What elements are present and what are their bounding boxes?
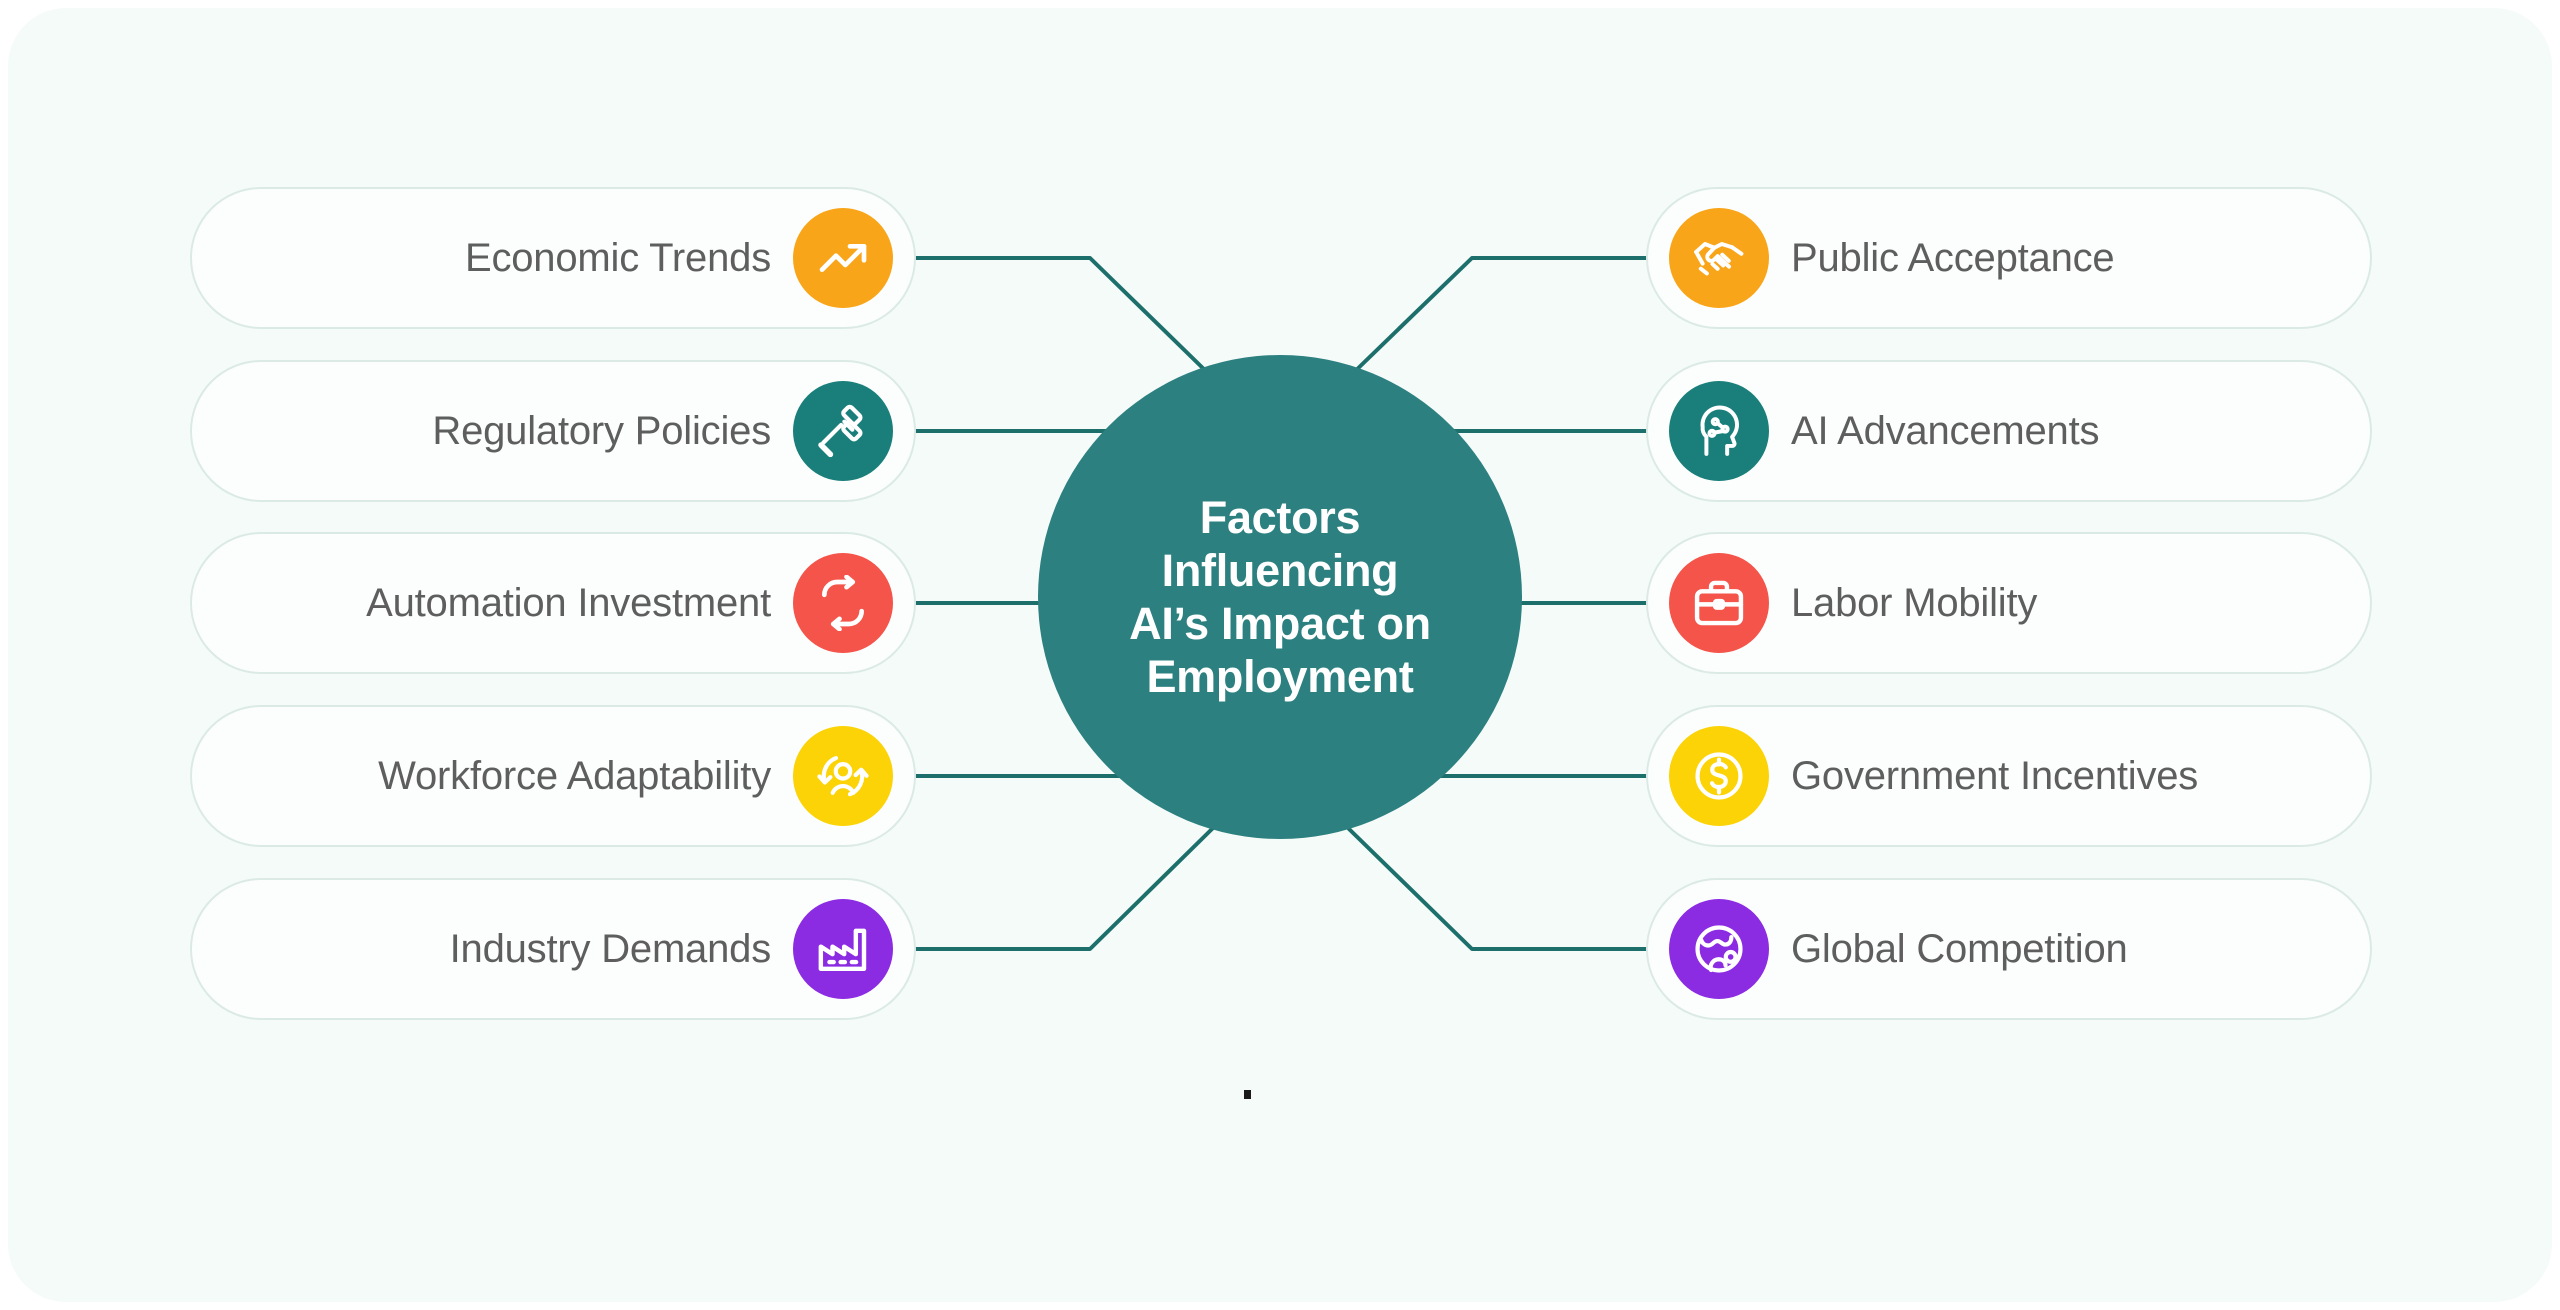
- branch-label: Automation Investment: [366, 581, 771, 626]
- branch-label: Labor Mobility: [1791, 581, 2037, 626]
- diagram-canvas: Factors Influencing AI’s Impact on Emplo…: [0, 0, 2560, 1310]
- branch-card-regulatory-policies[interactable]: Regulatory Policies: [190, 360, 916, 502]
- central-hub[interactable]: Factors Influencing AI’s Impact on Emplo…: [1038, 355, 1522, 839]
- branch-card-industry-demands[interactable]: Industry Demands: [190, 878, 916, 1020]
- repeat-cycle-icon: [793, 553, 893, 653]
- branch-label: Workforce Adaptability: [378, 754, 771, 799]
- connector-left-1: [916, 258, 1213, 378]
- branch-card-government-incentives[interactable]: Government Incentives: [1646, 705, 2372, 847]
- globe-icon: [1669, 899, 1769, 999]
- branch-card-ai-advancements[interactable]: AI Advancements: [1646, 360, 2372, 502]
- branch-label: Global Competition: [1791, 927, 2128, 972]
- branch-card-labor-mobility[interactable]: Labor Mobility: [1646, 532, 2372, 674]
- branch-label: AI Advancements: [1791, 409, 2099, 454]
- connector-right-5: [1348, 828, 1646, 949]
- handshake-icon: [1669, 208, 1769, 308]
- branch-label: Regulatory Policies: [432, 409, 771, 454]
- ai-head-icon: [1669, 381, 1769, 481]
- stray-dot-artifact: [1244, 1090, 1251, 1099]
- branch-card-economic-trends[interactable]: Economic Trends: [190, 187, 916, 329]
- branch-card-workforce-adaptability[interactable]: Workforce Adaptability: [190, 705, 916, 847]
- person-refresh-icon: [793, 726, 893, 826]
- branch-label: Government Incentives: [1791, 754, 2198, 799]
- connector-left-5: [916, 828, 1213, 949]
- connector-right-1: [1348, 258, 1646, 378]
- central-hub-label: Factors Influencing AI’s Impact on Emplo…: [1103, 491, 1457, 703]
- branch-card-public-acceptance[interactable]: Public Acceptance: [1646, 187, 2372, 329]
- branch-label: Industry Demands: [450, 927, 771, 972]
- branch-label: Public Acceptance: [1791, 236, 2114, 281]
- briefcase-icon: [1669, 553, 1769, 653]
- branch-label: Economic Trends: [465, 236, 771, 281]
- branch-card-global-competition[interactable]: Global Competition: [1646, 878, 2372, 1020]
- factory-icon: [793, 899, 893, 999]
- branch-card-automation-investment[interactable]: Automation Investment: [190, 532, 916, 674]
- trending-up-icon: [793, 208, 893, 308]
- gavel-icon: [793, 381, 893, 481]
- dollar-coin-icon: [1669, 726, 1769, 826]
